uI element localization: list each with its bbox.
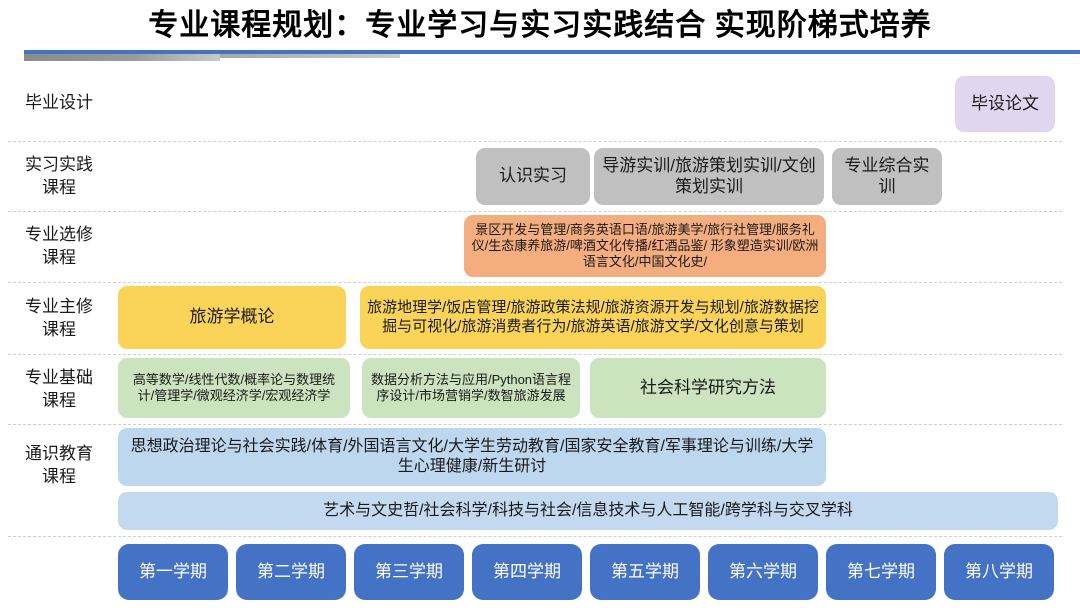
row-label-major-courses: 专业主修 课程 [8,295,110,341]
course-box-guide-training[interactable]: 导游实训/旅游策划实训/文创策划实训 [594,148,824,205]
semester-box-1[interactable]: 第一学期 [118,544,228,600]
semester-box-7[interactable]: 第七学期 [826,544,936,600]
course-box-major-course-list[interactable]: 旅游地理学/饭店管理/旅游政策法规/旅游资源开发与规划/旅游数据挖掘与可视化/旅… [360,286,826,349]
divider-gray-bar-secondary [220,54,400,58]
semester-box-2[interactable]: 第二学期 [236,544,346,600]
curriculum-matrix: 毕业设计 毕设论文 实习实践 课程 认识实习 导游实训/旅游策划实训/文创策划实… [0,66,1080,612]
course-box-math-economics[interactable]: 高等数学/线性代数/概率论与数理统计/管理学/微观经济学/宏观经济学 [118,358,350,418]
title-divider [0,50,1080,63]
course-box-electives[interactable]: 景区开发与管理/商务英语口语/旅游美学/旅行社管理/服务礼仪/生态康养旅游/啤酒… [464,215,826,277]
course-box-comprehensive-training[interactable]: 专业综合实训 [832,148,942,205]
matrix-row-practice-courses: 实习实践 课程 认识实习 导游实训/旅游策划实训/文创策划实训 专业综合实训 [0,141,1080,211]
course-box-data-analysis[interactable]: 数据分析方法与应用/Python语言程序设计/市场营销学/数智旅游发展 [362,358,580,418]
row-label-general-education: 通识教育 课程 [8,442,110,488]
matrix-row-major-courses: 专业主修 课程 旅游学概论 旅游地理学/饭店管理/旅游政策法规/旅游资源开发与规… [0,282,1080,354]
row-label-graduation-design: 毕业设计 [8,91,110,114]
page-title: 专业课程规划：专业学习与实习实践结合 实现阶梯式培养 [0,0,1080,44]
matrix-row-graduation-design: 毕业设计 毕设论文 [0,66,1080,141]
divider-gray-bar [24,54,220,61]
course-box-general-core[interactable]: 思想政治理论与社会实践/体育/外国语言文化/大学生劳动教育/国家安全教育/军事理… [118,428,826,486]
semester-box-4[interactable]: 第四学期 [472,544,582,600]
semester-box-3[interactable]: 第三学期 [354,544,464,600]
row-label-foundation-courses: 专业基础 课程 [8,366,110,412]
row-label-elective-courses: 专业选修 课程 [8,223,110,269]
matrix-row-foundation-courses: 专业基础 课程 高等数学/线性代数/概率论与数理统计/管理学/微观经济学/宏观经… [0,354,1080,424]
matrix-row-elective-courses: 专业选修 课程 景区开发与管理/商务英语口语/旅游美学/旅行社管理/服务礼仪/生… [0,211,1080,282]
semester-strip: 第一学期 第二学期 第三学期 第四学期 第五学期 第六学期 第七学期 第八学期 [0,536,1080,612]
course-box-thesis[interactable]: 毕设论文 [955,76,1055,132]
course-box-social-science-methods[interactable]: 社会科学研究方法 [590,358,826,418]
semester-box-5[interactable]: 第五学期 [590,544,700,600]
matrix-row-general-education: 通识教育 课程 思想政治理论与社会实践/体育/外国语言文化/大学生劳动教育/国家… [0,424,1080,536]
course-box-tourism-intro[interactable]: 旅游学概论 [118,286,346,349]
semester-box-8[interactable]: 第八学期 [944,544,1054,600]
course-box-cognitive-internship[interactable]: 认识实习 [476,148,590,205]
course-box-general-elective[interactable]: 艺术与文史哲/社会科学/科技与社会/信息技术与人工智能/跨学科与交叉学科 [118,492,1058,530]
row-label-practice-courses: 实习实践 课程 [8,153,110,199]
semester-box-6[interactable]: 第六学期 [708,544,818,600]
